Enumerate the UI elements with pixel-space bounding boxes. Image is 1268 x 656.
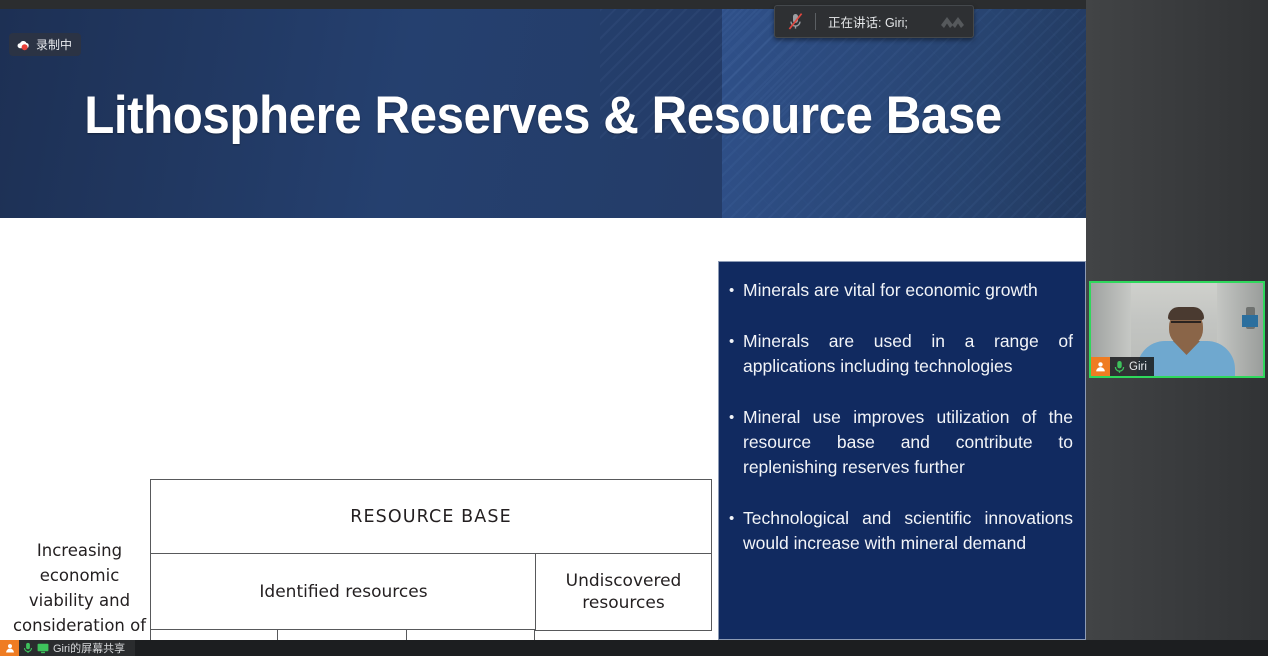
screen-share-label: Giri的屏幕共享 [53,640,125,656]
host-badge-icon [1091,357,1110,376]
speaking-status-label: 正在讲话: Giri; [816,12,933,31]
mic-on-icon [1114,360,1125,374]
cell-resource-base: RESOURCE BASE [150,479,712,555]
video-person-hair [1168,307,1204,320]
cell-identified-resources: Identified resources [150,553,537,631]
video-wall-poster [1242,315,1258,327]
host-badge-icon [0,640,19,656]
participant-name: Giri [1129,361,1147,373]
page-title: Lithosphere Reserves & Resource Base [38,85,1048,146]
slide-title-band: Lithosphere Reserves & Resource Base [0,9,1086,218]
video-person-glasses [1171,321,1201,328]
recording-cloud-icon [16,39,31,51]
key-points-panel: Minerals are vital for economic growth M… [718,261,1086,640]
bullet-text: Minerals are used in a range of applicat… [743,329,1073,379]
cell-undiscovered-resources: Undiscovered resources [535,553,712,631]
double-chevron-icon[interactable] [933,14,973,30]
zoom-screen-share-window: Lithosphere Reserves & Resource Base Inc… [0,0,1268,656]
bullet-item: Minerals are vital for economic growth [729,278,1073,303]
cell-inferred-resources: Inferred resources [406,629,535,640]
diagram-side-label-text: Increasing economic viability and consid… [13,541,146,640]
participant-name-bar: Giri [1091,357,1154,376]
shared-slide: Lithosphere Reserves & Resource Base Inc… [0,9,1086,640]
mic-muted-icon[interactable] [775,12,815,31]
participant-video-tile[interactable]: Giri [1089,281,1265,378]
cell-measured-resources: Measured resources [150,629,279,640]
screen-share-status-chip[interactable]: Giri的屏幕共享 [0,640,135,656]
screen-share-icon [37,643,49,654]
bullet-item: Technological and scientific innovations… [729,506,1073,556]
recording-indicator[interactable]: 录制中 [9,33,81,56]
resource-table: RESOURCE BASE Identified resources Undis… [150,479,712,640]
bottom-status-bar: Giri的屏幕共享 [0,640,1268,656]
bullet-text: Minerals are vital for economic growth [743,278,1073,303]
bullet-item: Mineral use improves utilization of the … [729,405,1073,480]
diagram-side-label: Increasing economic viability and consid… [12,538,147,640]
cell-indicated-resources: Indicated resources [277,629,408,640]
recording-label: 录制中 [36,36,72,53]
resource-classification-diagram: Increasing economic viability and consid… [0,218,718,640]
meeting-floating-toolbar[interactable]: 正在讲话: Giri; [774,5,974,38]
bullet-text: Mineral use improves utilization of the … [743,405,1073,480]
mic-on-icon [23,642,33,654]
bullet-item: Minerals are used in a range of applicat… [729,329,1073,379]
bullet-text: Technological and scientific innovations… [743,506,1073,556]
